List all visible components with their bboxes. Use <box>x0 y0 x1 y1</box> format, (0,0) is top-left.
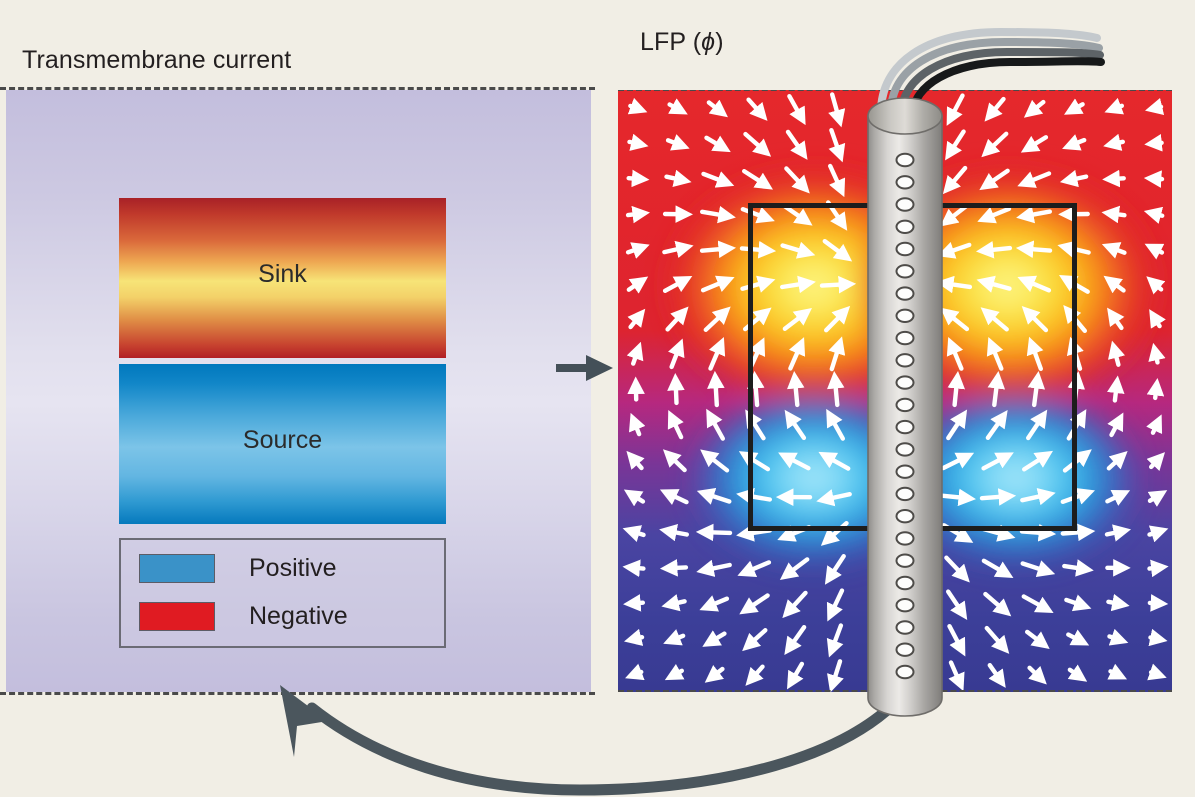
field-vector <box>704 174 729 184</box>
forward-arrow-icon <box>556 352 614 384</box>
field-vector <box>671 416 681 438</box>
field-vector <box>787 593 806 614</box>
field-vector <box>830 166 842 192</box>
field-vector <box>628 213 644 215</box>
electrode-contact[interactable] <box>897 399 914 411</box>
field-vector <box>749 100 764 117</box>
csd-legend: Positive Negative <box>119 538 446 648</box>
field-vector <box>746 134 767 153</box>
field-vector <box>715 377 717 405</box>
field-vector <box>710 669 723 679</box>
legend-item-positive: Positive <box>139 554 337 583</box>
field-vector <box>744 596 767 612</box>
field-vector <box>1151 457 1161 467</box>
field-vector <box>744 171 768 186</box>
phi-symbol: ϕ <box>701 28 715 56</box>
field-vector <box>703 493 730 502</box>
electrode-contact[interactable] <box>897 221 914 233</box>
field-vector <box>709 103 723 114</box>
field-vector <box>702 212 730 217</box>
field-vector <box>786 169 805 190</box>
field-vector <box>830 591 842 616</box>
field-vector <box>629 178 644 179</box>
field-vector <box>666 567 686 568</box>
field-vector <box>831 130 840 156</box>
field-vector <box>665 279 687 291</box>
field-vector <box>631 672 641 676</box>
electrode-contact[interactable] <box>897 332 914 344</box>
field-vector <box>709 414 723 439</box>
field-vector <box>1150 178 1162 179</box>
legend-label-negative: Negative <box>249 602 348 631</box>
field-vector <box>629 280 643 290</box>
field-vector <box>702 565 729 571</box>
field-vector <box>667 177 686 181</box>
field-vector <box>629 567 644 568</box>
field-vector <box>629 530 644 535</box>
field-vector <box>667 454 684 471</box>
field-vector <box>705 599 727 608</box>
field-vector <box>665 531 687 535</box>
field-vector <box>703 280 729 291</box>
field-vector <box>742 530 770 534</box>
electrode-contact[interactable] <box>897 466 914 478</box>
field-vector <box>629 493 643 502</box>
field-vector <box>708 634 725 644</box>
field-vector <box>828 556 843 579</box>
field-vector <box>1151 107 1161 109</box>
figure-root: Transmembrane current (CSD), C(x, y, z) … <box>0 0 1195 797</box>
field-vector <box>702 248 730 250</box>
csd-title-line1: Transmembrane current <box>22 43 291 78</box>
field-vector <box>633 348 639 364</box>
field-vector <box>664 247 687 252</box>
field-vector <box>1151 638 1162 640</box>
source-block: Source <box>119 364 446 524</box>
field-vector <box>747 630 766 647</box>
field-vector <box>789 96 802 120</box>
electrode-contact[interactable] <box>897 621 914 633</box>
electrode-contact[interactable] <box>897 421 914 433</box>
field-vector <box>666 492 687 502</box>
electrode-contact[interactable] <box>897 510 914 522</box>
sink-label: Sink <box>119 260 446 289</box>
field-vector <box>1151 280 1161 289</box>
field-vector <box>668 140 684 146</box>
field-vector <box>1150 603 1162 604</box>
field-vector <box>633 419 639 435</box>
field-vector <box>750 667 763 682</box>
field-vector <box>668 311 685 329</box>
electrode-contact[interactable] <box>897 666 914 678</box>
electrode-contact[interactable] <box>897 243 914 255</box>
electrode-contact[interactable] <box>897 354 914 366</box>
electrode-contact[interactable] <box>897 443 914 455</box>
electrode-contact[interactable] <box>897 176 914 188</box>
legend-item-negative: Negative <box>139 602 348 631</box>
field-vector <box>672 344 681 367</box>
field-vector <box>706 311 726 330</box>
field-vector <box>1150 567 1163 569</box>
field-vector <box>1152 314 1159 326</box>
field-vector <box>670 671 682 677</box>
electrode-assembly[interactable] <box>855 10 1115 750</box>
electrode-contact[interactable] <box>897 198 914 210</box>
electrode-contact[interactable] <box>897 532 914 544</box>
electrode-contact[interactable] <box>897 644 914 656</box>
electrode-contact[interactable] <box>897 599 914 611</box>
electrode-contact[interactable] <box>897 287 914 299</box>
lfp-title-prefix: LFP ( <box>640 28 701 56</box>
field-vector <box>790 664 802 684</box>
electrode-contact[interactable] <box>897 265 914 277</box>
electrode-contact[interactable] <box>897 577 914 589</box>
field-vector <box>631 314 642 328</box>
field-vector <box>702 532 730 533</box>
field-vector <box>630 142 643 145</box>
electrode-contact[interactable] <box>897 376 914 388</box>
field-vector <box>743 562 769 573</box>
lfp-title-suffix: ) <box>715 28 723 56</box>
electrode-contact[interactable] <box>897 488 914 500</box>
legend-swatch-positive <box>139 554 215 583</box>
field-vector <box>1155 349 1158 363</box>
field-vector <box>1150 530 1163 534</box>
source-label: Source <box>119 426 446 455</box>
legend-label-positive: Positive <box>249 554 337 583</box>
field-vector <box>676 379 677 403</box>
legend-swatch-negative <box>139 602 215 631</box>
electrode-contact[interactable] <box>897 154 914 166</box>
feedback-arrow-icon <box>250 680 940 797</box>
field-vector <box>630 637 642 640</box>
field-vector <box>832 95 840 122</box>
field-vector <box>631 456 642 469</box>
field-vector <box>1150 493 1162 500</box>
field-vector <box>1150 143 1161 144</box>
field-vector <box>711 343 722 369</box>
field-vector <box>1153 420 1159 433</box>
sink-block: Sink <box>119 198 446 358</box>
field-vector <box>1115 382 1117 401</box>
field-vector <box>1155 384 1157 398</box>
field-vector <box>788 132 804 155</box>
field-vector <box>831 626 841 652</box>
field-vector <box>785 559 807 576</box>
field-vector <box>832 661 840 686</box>
lfp-panel-title: LFP (ϕ) <box>640 25 724 60</box>
field-vector <box>707 138 726 149</box>
field-vector <box>669 636 683 642</box>
field-vector <box>628 247 644 253</box>
field-vector <box>1151 672 1161 675</box>
field-vector <box>1150 213 1162 216</box>
field-vector <box>667 601 684 605</box>
electrode-contact[interactable] <box>897 555 914 567</box>
field-vector <box>788 627 804 650</box>
electrode-contact[interactable] <box>897 310 914 322</box>
field-vector <box>705 453 727 470</box>
csd-panel: Sink Source Positive Negative <box>6 90 591 692</box>
field-vector <box>1150 247 1162 253</box>
field-vector <box>629 603 643 604</box>
field-vector <box>670 105 683 112</box>
field-vector <box>630 106 641 110</box>
